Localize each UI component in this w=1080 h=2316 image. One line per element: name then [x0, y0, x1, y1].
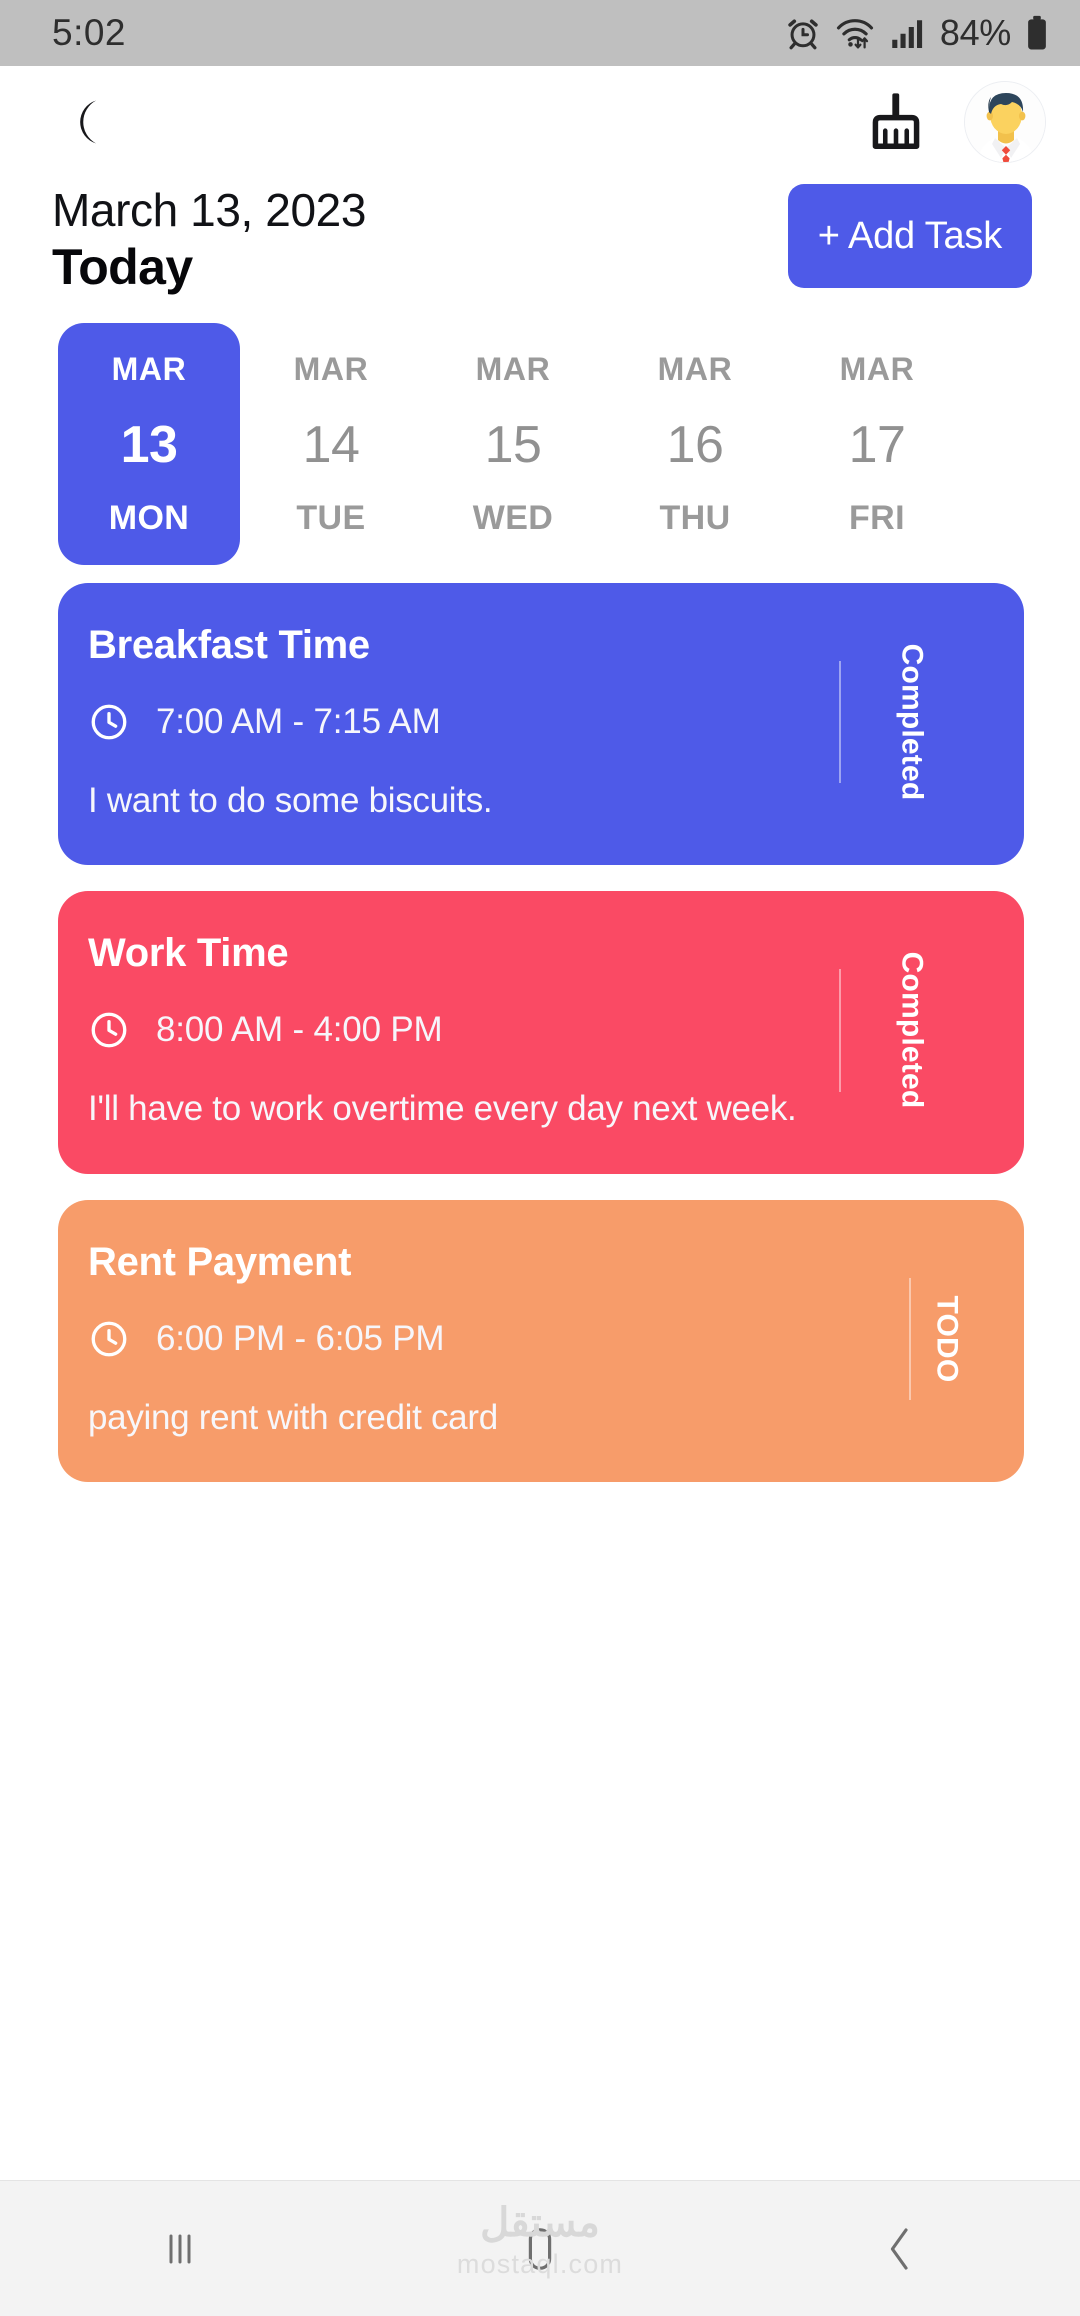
- date-cell-13[interactable]: MAR13MON: [58, 323, 240, 565]
- task-content: Breakfast Time7:00 AM - 7:15 AMI want to…: [88, 623, 833, 821]
- recents-glyph: [156, 2225, 204, 2273]
- task-status: Completed: [833, 623, 1024, 821]
- wifi-icon: [834, 15, 876, 51]
- task-content: Work Time8:00 AM - 4:00 PMI'll have to w…: [88, 931, 833, 1129]
- status-badge: Completed: [895, 952, 929, 1109]
- date-month-label: MAR: [112, 351, 187, 388]
- clock-icon: [88, 1318, 130, 1360]
- task-title: Rent Payment: [88, 1240, 883, 1284]
- date-cell-15[interactable]: MAR15WED: [422, 323, 604, 565]
- date-day-number: 14: [303, 415, 360, 475]
- app-bar: [0, 66, 1080, 178]
- task-note: I want to do some biscuits.: [88, 781, 813, 821]
- android-navigation-bar: مستقل mostaql.com: [0, 2180, 1080, 2316]
- status-bar: 5:02: [0, 0, 1080, 66]
- date-cell-14[interactable]: MAR14TUE: [240, 323, 422, 565]
- page-title-row: March 13, 2023 Today + Add Task: [0, 178, 1080, 323]
- broom-icon[interactable]: [860, 86, 932, 158]
- task-time-label: 7:00 AM - 7:15 AM: [156, 702, 441, 742]
- status-badge: TODO: [930, 1295, 964, 1382]
- date-cell-17[interactable]: MAR17FRI: [786, 323, 968, 565]
- task-title: Breakfast Time: [88, 623, 813, 667]
- clock-icon: [88, 1009, 130, 1051]
- today-label: Today: [52, 238, 366, 297]
- app-bar-actions: [860, 81, 1046, 163]
- current-date-label: March 13, 2023: [52, 182, 366, 238]
- status-divider: [839, 969, 841, 1091]
- date-month-label: MAR: [476, 351, 551, 388]
- date-day-number: 13: [121, 415, 178, 475]
- date-weekday-label: FRI: [849, 499, 905, 538]
- battery-icon: [1024, 14, 1050, 52]
- page-title: March 13, 2023 Today: [52, 178, 366, 297]
- task-time-row: 7:00 AM - 7:15 AM: [88, 701, 813, 743]
- date-weekday-label: WED: [473, 499, 554, 538]
- date-weekday-label: MON: [109, 499, 190, 538]
- broom-glyph: [865, 90, 927, 154]
- battery-percentage: 84%: [940, 12, 1011, 54]
- task-card[interactable]: Rent Payment6:00 PM - 6:05 PMpaying rent…: [58, 1200, 1024, 1482]
- task-list: Breakfast Time7:00 AM - 7:15 AMI want to…: [0, 569, 1080, 2180]
- date-month-label: MAR: [840, 351, 915, 388]
- crescent-moon-glyph: [56, 93, 114, 151]
- task-time-row: 6:00 PM - 6:05 PM: [88, 1318, 883, 1360]
- task-note: I'll have to work overtime every day nex…: [88, 1089, 813, 1129]
- home-glyph: [516, 2221, 564, 2277]
- status-divider: [839, 661, 841, 783]
- date-month-label: MAR: [658, 351, 733, 388]
- phone-screen: 5:02: [0, 0, 1080, 2316]
- clock-icon: [88, 701, 130, 743]
- user-avatar-icon[interactable]: [964, 81, 1046, 163]
- cellular-signal-icon: [889, 15, 927, 51]
- date-weekday-label: TUE: [296, 499, 365, 538]
- date-day-number: 16: [667, 415, 724, 475]
- status-badge: Completed: [895, 644, 929, 801]
- date-month-label: MAR: [294, 351, 369, 388]
- crescent-moon-icon[interactable]: [48, 85, 122, 159]
- task-time-label: 6:00 PM - 6:05 PM: [156, 1319, 444, 1359]
- task-time-label: 8:00 AM - 4:00 PM: [156, 1010, 442, 1050]
- task-note: paying rent with credit card: [88, 1398, 883, 1438]
- add-task-button[interactable]: + Add Task: [788, 184, 1032, 288]
- task-time-row: 8:00 AM - 4:00 PM: [88, 1009, 813, 1051]
- task-status: TODO: [903, 1240, 1024, 1438]
- recents-icon[interactable]: [0, 2181, 360, 2316]
- task-title: Work Time: [88, 931, 813, 975]
- task-status: Completed: [833, 931, 1024, 1129]
- task-content: Rent Payment6:00 PM - 6:05 PMpaying rent…: [88, 1240, 903, 1438]
- back-glyph: [876, 2223, 924, 2275]
- back-chevron-icon[interactable]: [720, 2181, 1080, 2316]
- avatar-illustration: [965, 82, 1046, 163]
- task-card[interactable]: Work Time8:00 AM - 4:00 PMI'll have to w…: [58, 891, 1024, 1173]
- date-day-number: 17: [849, 415, 906, 475]
- status-bar-clock: 5:02: [52, 12, 126, 54]
- date-cell-16[interactable]: MAR16THU: [604, 323, 786, 565]
- alarm-clock-icon: [785, 15, 821, 51]
- status-divider: [909, 1278, 911, 1400]
- status-bar-indicators: 84%: [785, 12, 1050, 54]
- home-icon[interactable]: [360, 2181, 720, 2316]
- date-selector[interactable]: MAR13MONMAR14TUEMAR15WEDMAR16THUMAR17FRI: [0, 323, 1080, 569]
- task-card[interactable]: Breakfast Time7:00 AM - 7:15 AMI want to…: [58, 583, 1024, 865]
- date-weekday-label: THU: [659, 499, 730, 538]
- date-day-number: 15: [485, 415, 542, 475]
